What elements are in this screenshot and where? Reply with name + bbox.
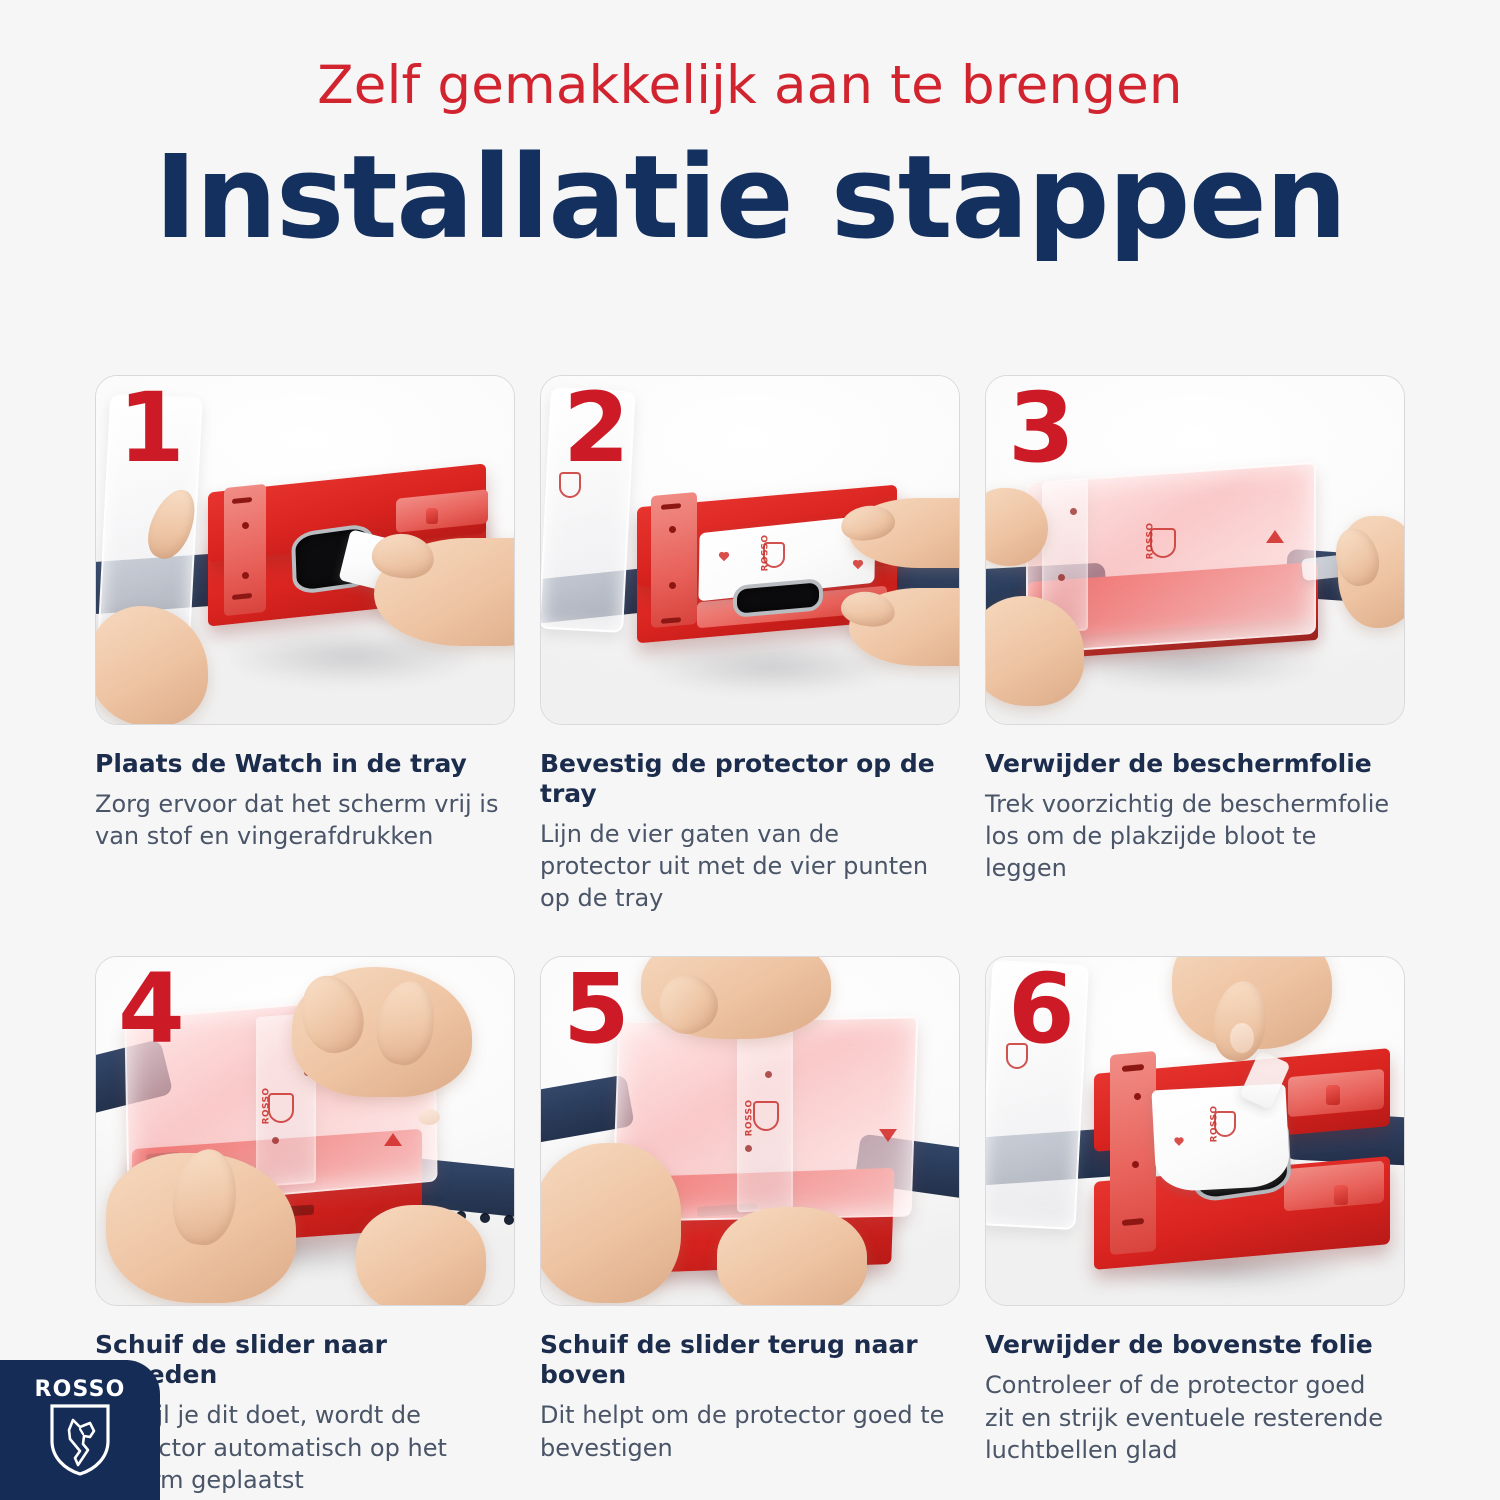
shield-horse-icon (49, 1403, 111, 1482)
step-title-1: Plaats de Watch in de tray (95, 749, 515, 779)
step-number-1: 1 (118, 380, 183, 476)
step-photo-3: ROSSO 3 (985, 375, 1405, 725)
page-header: Zelf gemakkelijk aan te brengen Installa… (0, 0, 1500, 260)
installation-steps-grid: 1 Plaats de Watch in de tray Zorg ervoor… (95, 375, 1405, 1496)
step-description-3: Trek voorzichtig de beschermfolie los om… (985, 788, 1395, 884)
step-number-4: 4 (118, 961, 183, 1057)
step-title-2: Bevestig de protector op de tray (540, 749, 960, 809)
step-card-2: ROSSO 2 Bevestig de protector op de tray… (540, 375, 960, 914)
step-photo-1: 1 (95, 375, 515, 725)
step-card-5: ROSSO 5 Schuif de slider terug naar bove… (540, 956, 960, 1495)
step-card-6: ROSSO 6 Verwijder de bovenste folie Cont… (985, 956, 1405, 1495)
step-photo-4: ROSSO 4 (95, 956, 515, 1306)
brand-name: ROSSO (34, 1379, 125, 1401)
step-title-3: Verwijder de beschermfolie (985, 749, 1405, 779)
step-description-6: Controleer of de protector goed zit en s… (985, 1369, 1395, 1465)
step-photo-2: ROSSO 2 (540, 375, 960, 725)
step-card-1: 1 Plaats de Watch in de tray Zorg ervoor… (95, 375, 515, 914)
step-description-2: Lijn de vier gaten van de protector uit … (540, 818, 950, 914)
step-title-6: Verwijder de bovenste folie (985, 1330, 1405, 1360)
step-number-5: 5 (563, 961, 628, 1057)
step-number-6: 6 (1008, 961, 1073, 1057)
step-description-5: Dit helpt om de protector goed te bevest… (540, 1399, 950, 1463)
step-title-5: Schuif de slider terug naar boven (540, 1330, 960, 1390)
step-photo-5: ROSSO 5 (540, 956, 960, 1306)
step-number-3: 3 (1008, 380, 1073, 476)
header-eyebrow: Zelf gemakkelijk aan te brengen (0, 58, 1500, 114)
brand-logo-badge: ROSSO (0, 1360, 160, 1500)
step-description-1: Zorg ervoor dat het scherm vrij is van s… (95, 788, 505, 852)
page-title: Installatie stappen (0, 136, 1500, 260)
step-number-2: 2 (563, 380, 628, 476)
step-card-3: ROSSO 3 Verwijder de beschermfolie Trek … (985, 375, 1405, 914)
step-title-4: Schuif de slider naar beneden (95, 1330, 515, 1390)
step-photo-6: ROSSO 6 (985, 956, 1405, 1306)
